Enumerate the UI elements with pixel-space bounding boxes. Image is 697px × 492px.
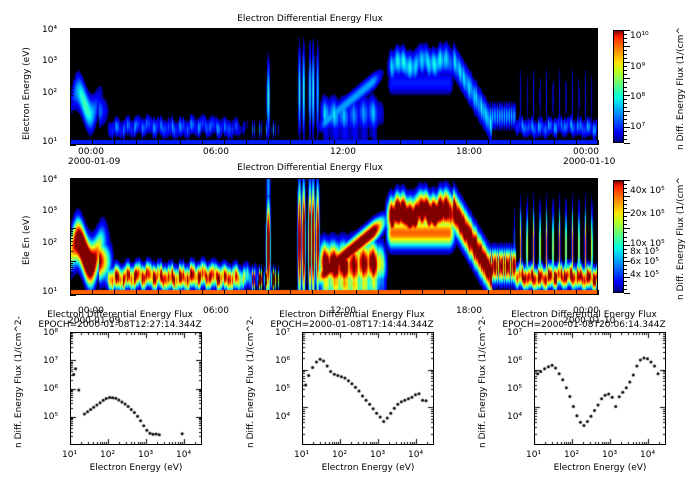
spectrum-2-xtick-2: 10³ (602, 450, 617, 460)
spectrum-2-ylabel: n Diff. Energy Flux (1/(cm^2- (478, 316, 488, 448)
panel1-x-tick (158, 140, 159, 145)
panel2-cbar-tick (624, 289, 627, 290)
panel1-xtick-3: 18:00 (456, 147, 482, 157)
panel1-cbar-tick (624, 123, 627, 124)
panel1-y-tick (70, 129, 73, 130)
panel2-y-tick (70, 202, 73, 203)
spectrum-plot-0[interactable]: Electron Differential Energy Flux EPOCH=… (0, 300, 232, 492)
panel2-y-tick (70, 228, 76, 229)
panel1-cbar-tick (624, 54, 627, 55)
panel1-x-tick (444, 140, 445, 145)
panel1-cbar-tick (624, 50, 627, 51)
spectrum-0-xlabel: Electron Energy (eV) (70, 463, 202, 473)
panel1-cbar-tick-1: 10⁹ (630, 62, 645, 72)
spectrum-2-ytick-1: 10⁶ (507, 356, 522, 366)
panel1-y-tick (70, 49, 73, 50)
panel2-ytick-2: 10² (42, 238, 57, 248)
spectrum-0-ytick-0: 10⁸ (43, 328, 58, 338)
spectrum-1-xtick-1: 10² (332, 450, 347, 460)
panel1-cbar-tick (624, 95, 630, 96)
panel2-cbar-tick-4: 6x 10⁵ (630, 257, 659, 267)
panel1-cbar-tick (624, 66, 627, 67)
panel1-cbar-tick (624, 58, 627, 59)
panel1-cbar-tick (624, 91, 627, 92)
panel2-x-tick (136, 290, 137, 295)
spectrum-2-ytick-2: 10⁵ (507, 384, 522, 394)
spectrum-0-canvas (70, 332, 202, 445)
panel2-cbar-tick (624, 249, 627, 250)
panel2-x-tick (598, 290, 599, 295)
panel2-x-tick (554, 290, 555, 295)
spectrum-0-ytick-1: 10⁷ (43, 356, 58, 366)
panel2-y-tick (70, 233, 73, 234)
panel1-x-tick (202, 140, 203, 145)
panel2-x-tick (378, 290, 379, 295)
panel2-x-tick (312, 290, 313, 295)
panel1-y-tick (70, 68, 73, 69)
spectrum-0-ytick-3: 10⁵ (43, 412, 58, 422)
panel1-cbar-tick (624, 127, 630, 128)
panel2-x-tick (246, 290, 247, 295)
spectrum-0-xtick-0: 10¹ (62, 450, 77, 460)
panel1-x-tick (136, 140, 137, 145)
panel2-cbar-tick (624, 277, 630, 278)
panel1-y-tick (70, 119, 73, 120)
panel1-cbar-tick (624, 34, 627, 35)
panel1-y-tick (70, 101, 73, 102)
panel2-y-tick (70, 194, 76, 195)
panel1-cbar-tick-3: 10⁷ (630, 122, 645, 132)
panel1-y-tick (70, 135, 73, 136)
panel2-cbar-tick (624, 261, 630, 262)
panel2-x-tick (532, 290, 533, 295)
spectrum-1-ytick-0: 10⁷ (275, 328, 290, 338)
spectrum-2-xtick-3: 10⁴ (640, 450, 655, 460)
spectrum-0-ytick-2: 10⁶ (43, 384, 58, 394)
panel2-cbar-tick (624, 273, 627, 274)
panel2-y-tick (70, 267, 73, 268)
panel1-ytick-2: 10² (42, 88, 57, 98)
panel2-cbar-tick (624, 204, 627, 205)
panel1-ylabel: Electron Energy (eV) (22, 47, 32, 140)
panel2-ytick-4: 10⁴ (42, 175, 57, 185)
panel1-cbar-tick (624, 107, 627, 108)
panel1-y-tick (70, 52, 73, 53)
panel2-y-tick (70, 265, 73, 266)
panel2-cbar-tick (624, 232, 627, 233)
panel2-cbar-tick (624, 212, 630, 213)
panel2-x-tick (510, 290, 511, 295)
panel1-y-tick (70, 44, 76, 45)
panel2-y-tick (70, 261, 76, 262)
spectrum-0-title: Electron Differential Energy Flux (10, 310, 230, 320)
panel1-x-tick (422, 140, 423, 145)
panel1-cbar-label: n Diff. Energy Flux (1/(cm^ (676, 27, 686, 150)
panel2-x-tick (290, 290, 291, 295)
panel1-x-tick (312, 140, 313, 145)
panel1-y-tick (70, 46, 73, 47)
panel2-y-tick (70, 251, 73, 252)
panel2-cbar-tick (624, 228, 630, 229)
spectrum-1-ytick-3: 10⁴ (275, 412, 290, 422)
panel2-x-tick (114, 290, 115, 295)
panel2-cbar-tick (624, 184, 627, 185)
panel2-cbar-label: n Diff. Energy Flux (1/(cm^ (676, 177, 686, 300)
panel1-y-tick (70, 28, 73, 29)
panel2-y-tick (70, 272, 73, 273)
panel1-y-tick (70, 79, 73, 80)
panel2-ytick-3: 10³ (42, 206, 57, 216)
panel2-y-tick (70, 178, 73, 179)
panel2-ytick-1: 10¹ (42, 287, 57, 297)
panel2-y-tick (70, 231, 73, 232)
panel1-x-tick (466, 140, 467, 145)
panel2-cbar-tick (624, 293, 630, 294)
panel1-y-tick (70, 117, 73, 118)
panel1-x-tick (510, 140, 511, 145)
panel1-y-tick (70, 62, 73, 63)
panel1-cbar-tick (624, 99, 627, 100)
spectrum-0-xtick-3: 10⁴ (176, 450, 191, 460)
panel2-y-tick (70, 212, 73, 213)
panel2-cbar-tick (624, 257, 627, 258)
panel2-y-tick (70, 238, 73, 239)
panel2-cbar-tick-5: 4x 10⁵ (630, 270, 659, 280)
panel1-xtick-4: 00:00 (573, 147, 599, 157)
panel1-y-tick (70, 115, 73, 116)
panel1-xtick-0: 00:00 (78, 147, 104, 157)
panel2-cbar-tick (624, 237, 627, 238)
panel2-cbar-tick (624, 245, 630, 246)
panel2-y-tick (70, 208, 73, 209)
panel1-y-tick (70, 111, 76, 112)
panel2-x-tick (334, 290, 335, 295)
panel1-x-tick (400, 140, 401, 145)
panel2-y-tick (70, 184, 73, 185)
panel2-cbar-tick (624, 192, 627, 193)
panel2-x-tick (444, 290, 445, 295)
spectrum-1-xtick-3: 10⁴ (408, 450, 423, 460)
panel2-cbar-tick (624, 265, 627, 266)
panel2-y-tick (70, 275, 73, 276)
panel1-y-tick (70, 95, 73, 96)
panel2-y-tick (70, 269, 73, 270)
spectrum-plot-2[interactable]: Electron Differential Energy Flux EPOCH=… (464, 300, 697, 492)
panel1-y-tick (70, 34, 73, 35)
panel1-cbar-tick (624, 82, 627, 83)
panel1-x-tick (268, 140, 269, 145)
panel1-y-tick (70, 83, 73, 84)
panel1-cbar-tick (624, 78, 630, 79)
panel1-x-tick (92, 140, 93, 145)
spectrum-0-xtick-1: 10² (100, 450, 115, 460)
panel1-y-tick (70, 78, 76, 79)
panel1-x-tick (334, 140, 335, 145)
panel2-x-tick (576, 290, 577, 295)
panel1-x-tick (356, 140, 357, 145)
panel2-y-tick (70, 197, 73, 198)
spectrum-2-xtick-0: 10¹ (526, 450, 541, 460)
spectrum-1-ytick-2: 10⁵ (275, 384, 290, 394)
panel1-x-tick (246, 140, 247, 145)
panel1-ytick-4: 10⁴ (42, 25, 57, 35)
panel1-y-tick (70, 81, 73, 82)
panel1-xtick-1: 06:00 (203, 147, 229, 157)
panel2-cbar-tick-0: 40x 10⁵ (630, 186, 665, 196)
panel1-y-tick (70, 54, 73, 55)
panel2-y-tick (70, 245, 73, 246)
spectrum-2-xlabel: Electron Energy (eV) (534, 463, 666, 473)
panel1-y-tick (70, 125, 73, 126)
panel1-y-tick (70, 122, 73, 123)
panel2-cbar-tick-1: 20x 10⁵ (630, 209, 665, 219)
panel1-x-tick (378, 140, 379, 145)
panel2-cbar-tick (624, 220, 627, 221)
panel2-y-tick (70, 196, 73, 197)
panel1-xtick-2: 12:00 (330, 147, 356, 157)
panel1-cbar-tick (624, 131, 627, 132)
panel1-x-tick (598, 140, 599, 145)
panel1-cbar-tick (624, 135, 627, 136)
panel2-x-tick (180, 290, 181, 295)
panel2-x-tick (422, 290, 423, 295)
panel1-cbar-tick (624, 74, 627, 75)
panel2-y-tick (70, 204, 73, 205)
panel1-y-tick (70, 58, 73, 59)
panel2-cbar-tick (624, 281, 627, 282)
panel1-cbar-tick (624, 62, 630, 63)
spectrum-1-canvas (302, 332, 434, 445)
spectrum-plot-1[interactable]: Electron Differential Energy Flux EPOCH=… (232, 300, 464, 492)
panel1-cbar-tick (624, 38, 627, 39)
panel2-y-tick (70, 199, 73, 200)
panel2-title: Electron Differential Energy Flux (0, 163, 620, 173)
panel2-x-tick (92, 290, 93, 295)
panel1-x-tick (114, 140, 115, 145)
panel1-cbar-tick (624, 103, 627, 104)
panel1-y-tick (70, 145, 76, 146)
panel2-x-tick (400, 290, 401, 295)
panel1-cbar-tick (624, 143, 630, 144)
panel1-cbar-tick (624, 115, 627, 116)
panel2-cbar-tick (624, 269, 627, 270)
panel2-y-tick (70, 285, 73, 286)
panel1-cbar-tick-2: 10⁸ (630, 92, 645, 102)
panel1-title: Electron Differential Energy Flux (0, 14, 620, 24)
panel1-colorbar[interactable] (613, 30, 624, 143)
panel1-y-tick (70, 47, 73, 48)
spectrum-2-title: Electron Differential Energy Flux (474, 310, 694, 320)
spectrum-0-xtick-2: 10³ (138, 450, 153, 460)
spectrum-1-title: Electron Differential Energy Flux (242, 310, 462, 320)
panel2-x-tick (224, 290, 225, 295)
panel2-cbar-tick (624, 180, 630, 181)
panel1-x-tick (532, 140, 533, 145)
panel2-x-tick (202, 290, 203, 295)
panel2-spectrogram[interactable] (70, 178, 598, 295)
spectrum-1-xtick-0: 10¹ (294, 450, 309, 460)
panel1-x-tick (488, 140, 489, 145)
spectrum-2-ytick-0: 10⁷ (507, 328, 522, 338)
panel2-cbar-tick (624, 188, 627, 189)
panel2-cbar-tick (624, 241, 627, 242)
panel2-y-tick (70, 263, 73, 264)
spectrum-0-ylabel: n Diff. Energy Flux (1/(cm^2- (14, 316, 24, 448)
panel1-cbar-tick (624, 111, 630, 112)
panel2-cbar-tick (624, 200, 627, 201)
spectrum-1-xlabel: Electron Energy (eV) (302, 463, 434, 473)
panel1-cbar-tick (624, 70, 627, 71)
panel1-cbar-tick (624, 46, 630, 47)
panel1-y-tick (70, 88, 73, 89)
panel2-ylabel: Ele En (eV) (22, 215, 32, 265)
panel1-cbar-tick (624, 87, 627, 88)
panel2-x-tick (268, 290, 269, 295)
panel1-cbar-tick (624, 139, 627, 140)
panel1-ytick-1: 10¹ (42, 137, 57, 147)
panel1-cbar-tick-0: 10¹⁰ (630, 31, 649, 41)
panel2-colorbar[interactable] (613, 180, 624, 293)
panel2-y-tick (70, 295, 76, 296)
spectrum-1-ylabel: n Diff. Energy Flux (1/(cm^2- (246, 316, 256, 448)
panel2-cbar-tick (624, 285, 627, 286)
spectrum-1-xtick-2: 10³ (370, 450, 385, 460)
panel1-y-tick (70, 113, 73, 114)
panel2-x-tick (488, 290, 489, 295)
panel2-x-tick (466, 290, 467, 295)
panel1-y-tick (70, 91, 73, 92)
spectrum-2-xtick-1: 10² (564, 450, 579, 460)
panel1-x-tick (554, 140, 555, 145)
panel1-x-tick (290, 140, 291, 145)
panel1-spectrogram[interactable] (70, 28, 598, 145)
panel2-cbar-tick (624, 253, 627, 254)
panel2-y-tick (70, 229, 73, 230)
panel1-ytick-3: 10³ (42, 56, 57, 66)
panel1-cbar-tick (624, 119, 627, 120)
panel2-y-tick (70, 235, 73, 236)
panel1-y-tick (70, 85, 73, 86)
panel2-y-tick (70, 241, 73, 242)
panel2-cbar-tick (624, 224, 627, 225)
panel2-x-tick (356, 290, 357, 295)
panel2-cbar-tick-3: 8x 10⁵ (630, 247, 659, 257)
panel2-cbar-tick (624, 216, 627, 217)
panel2-cbar-tick (624, 208, 627, 209)
spectrum-2-canvas (534, 332, 666, 445)
panel2-x-tick (158, 290, 159, 295)
panel1-cbar-tick (624, 30, 630, 31)
spectrum-2-ytick-3: 10⁴ (507, 412, 522, 422)
panel2-cbar-tick (624, 196, 630, 197)
panel1-x-tick (224, 140, 225, 145)
spectrum-1-ytick-1: 10⁶ (275, 356, 290, 366)
panel2-y-tick (70, 279, 73, 280)
panel1-x-tick (576, 140, 577, 145)
panel1-x-tick (180, 140, 181, 145)
panel2-y-tick (70, 218, 73, 219)
panel1-cbar-tick (624, 42, 627, 43)
